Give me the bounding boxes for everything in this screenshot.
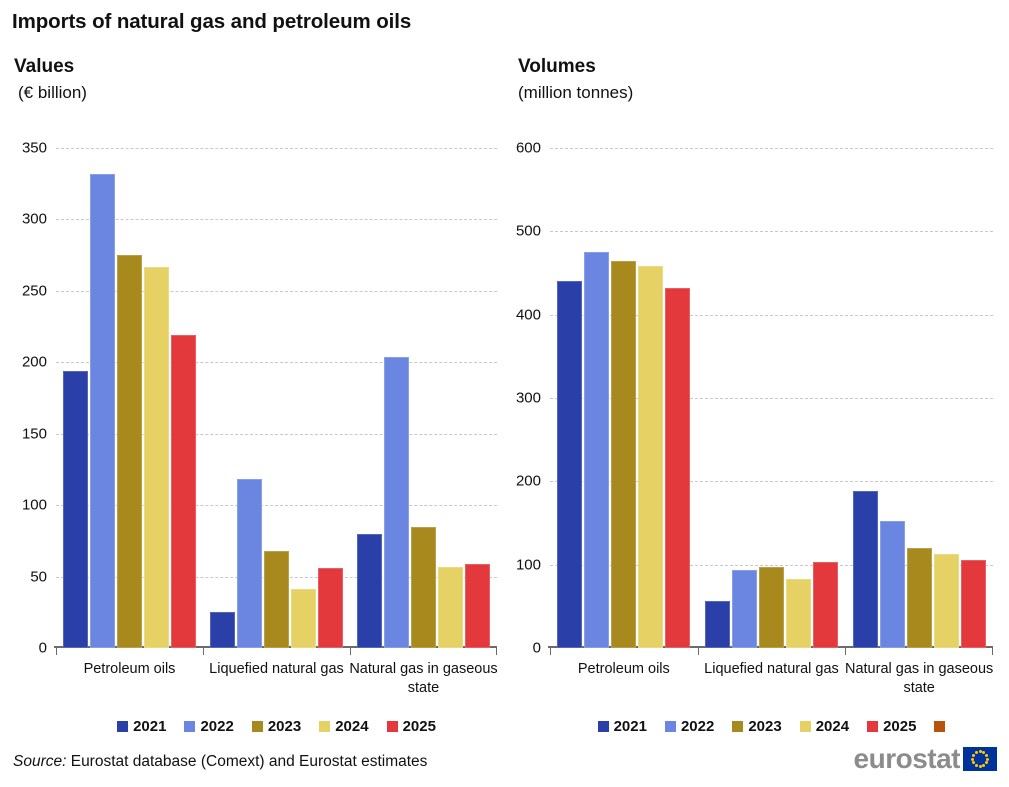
- bar-group: [203, 148, 350, 648]
- legend-label: 2025: [883, 718, 916, 735]
- legend-swatch-icon: [117, 721, 128, 732]
- legend-swatch-icon: [665, 721, 676, 732]
- bar: [384, 357, 409, 648]
- x-axis-tick: [56, 648, 57, 655]
- x-axis-category-label: Natural gas in gaseous state: [844, 660, 994, 698]
- bar: [584, 252, 609, 648]
- bar: [665, 288, 690, 648]
- legend-item[interactable]: 2022: [665, 718, 714, 735]
- y-axis-tick-label: 100: [22, 497, 47, 514]
- eu-star-icon: [975, 764, 978, 767]
- legend-item[interactable]: 2023: [252, 718, 301, 735]
- legend-label: 2024: [816, 718, 849, 735]
- legend-label: 2021: [614, 718, 647, 735]
- y-axis-tick-label: 200: [22, 354, 47, 371]
- bar: [705, 601, 730, 648]
- bar: [90, 174, 115, 648]
- y-axis-tick-label: 500: [516, 223, 541, 240]
- legend-item[interactable]: 2023: [732, 718, 781, 735]
- bar: [934, 554, 959, 648]
- bar: [465, 564, 490, 648]
- legend-item[interactable]: 2021: [598, 718, 647, 735]
- y-axis-tick-label: 0: [533, 640, 541, 657]
- x-axis-category-label: Liquefied natural gas: [697, 660, 847, 679]
- bar: [907, 548, 932, 648]
- y-axis-tick-label: 0: [39, 640, 47, 657]
- bar: [732, 570, 757, 648]
- legend-values: 20212022202320242025: [56, 718, 497, 735]
- eu-flag-icon: [963, 747, 997, 771]
- panel-volumes-subtitle: (million tonnes): [518, 83, 633, 103]
- source-text: Eurostat database (Comext) and Eurostat …: [66, 753, 427, 770]
- bar: [63, 371, 88, 648]
- bar-group: [56, 148, 203, 648]
- eu-star-icon: [971, 758, 974, 761]
- legend-swatch-icon: [732, 721, 743, 732]
- y-axis-tick-label: 350: [22, 140, 47, 157]
- bar: [638, 266, 663, 649]
- legend-swatch-icon: [252, 721, 263, 732]
- bar: [411, 527, 436, 648]
- eu-star-icon: [979, 750, 982, 753]
- legend-volumes: 20212022202320242025: [550, 718, 993, 735]
- chart-page: Imports of natural gas and petroleum oil…: [0, 0, 1009, 787]
- y-axis-tick-label: 200: [516, 473, 541, 490]
- page-title: Imports of natural gas and petroleum oil…: [12, 10, 411, 34]
- x-axis-tick: [698, 648, 699, 655]
- x-axis-category-label: Petroleum oils: [549, 660, 699, 679]
- x-axis-tick: [992, 648, 993, 655]
- legend-label: 2022: [200, 718, 233, 735]
- legend-swatch-icon: [184, 721, 195, 732]
- y-axis-tick-label: 600: [516, 140, 541, 157]
- x-axis-tick: [350, 648, 351, 655]
- source-note: Source: Eurostat database (Comext) and E…: [13, 753, 427, 771]
- bar: [853, 491, 878, 649]
- eu-star-icon: [975, 751, 978, 754]
- bar: [291, 589, 316, 648]
- bar: [117, 255, 142, 648]
- y-axis-tick-label: 300: [516, 390, 541, 407]
- x-axis-tick: [845, 648, 846, 655]
- legend-label: 2025: [403, 718, 436, 735]
- panel-volumes: Volumes (million tonnes) 010020030040050…: [505, 50, 1009, 750]
- legend-item[interactable]: 2025: [867, 718, 916, 735]
- bar: [210, 612, 235, 648]
- y-axis-tick-label: 150: [22, 425, 47, 442]
- legend-swatch-icon: [387, 721, 398, 732]
- x-axis-category-label: Natural gas in gaseous state: [349, 660, 499, 698]
- eu-star-icon: [972, 754, 975, 757]
- legend-item[interactable]: 2022: [184, 718, 233, 735]
- eu-star-icon: [985, 761, 988, 764]
- bar: [786, 579, 811, 648]
- y-axis-tick-label: 250: [22, 282, 47, 299]
- eu-star-icon: [979, 765, 982, 768]
- bar: [813, 562, 838, 648]
- bar: [318, 568, 343, 648]
- y-axis-tick-label: 400: [516, 306, 541, 323]
- eurostat-wordmark: eurostat: [854, 745, 960, 773]
- y-axis-tick-label: 50: [30, 568, 47, 585]
- bar: [961, 560, 986, 648]
- eu-star-icon: [986, 758, 989, 761]
- bar: [759, 567, 784, 648]
- bar-group: [550, 148, 698, 648]
- source-label: Source:: [13, 753, 66, 770]
- legend-item[interactable]: [934, 721, 945, 732]
- panel-values: Values (€ billion) 050100150200250300350…: [0, 50, 505, 750]
- bar: [237, 479, 262, 648]
- legend-label: 2022: [681, 718, 714, 735]
- bar-group: [350, 148, 497, 648]
- bar: [557, 281, 582, 649]
- legend-swatch-icon: [867, 721, 878, 732]
- y-axis-tick-label: 100: [516, 556, 541, 573]
- bar: [611, 261, 636, 648]
- bar-group: [698, 148, 846, 648]
- legend-label: 2024: [335, 718, 368, 735]
- legend-swatch-icon: [800, 721, 811, 732]
- plot-area-volumes: 0100200300400500600Petroleum oilsLiquefi…: [550, 148, 993, 648]
- legend-label: 2023: [748, 718, 781, 735]
- legend-swatch-icon: [598, 721, 609, 732]
- legend-label: 2023: [268, 718, 301, 735]
- legend-swatch-icon: [319, 721, 330, 732]
- y-axis-tick-label: 300: [22, 211, 47, 228]
- bar: [264, 551, 289, 648]
- bar: [171, 335, 196, 648]
- x-axis-tick: [496, 648, 497, 655]
- bar-group: [845, 148, 993, 648]
- bar: [438, 567, 463, 648]
- bar: [880, 521, 905, 648]
- eurostat-logo: eurostat: [854, 745, 997, 773]
- legend-item[interactable]: 2025: [387, 718, 436, 735]
- eu-star-icon: [985, 754, 988, 757]
- x-axis-tick: [550, 648, 551, 655]
- legend-item[interactable]: 2021: [117, 718, 166, 735]
- legend-item[interactable]: 2024: [800, 718, 849, 735]
- eu-star-icon: [982, 764, 985, 767]
- plot-area-values: 050100150200250300350Petroleum oilsLique…: [56, 148, 497, 648]
- panel-volumes-title: Volumes: [518, 56, 596, 78]
- legend-label: 2021: [133, 718, 166, 735]
- legend-item[interactable]: 2024: [319, 718, 368, 735]
- x-axis-category-label: Petroleum oils: [55, 660, 205, 679]
- bar: [357, 534, 382, 648]
- bar: [144, 267, 169, 648]
- x-axis-category-label: Liquefied natural gas: [202, 660, 352, 679]
- panel-values-subtitle: (€ billion): [18, 83, 87, 103]
- legend-swatch-icon: [934, 721, 945, 732]
- x-axis-tick: [203, 648, 204, 655]
- panel-values-title: Values: [14, 56, 74, 78]
